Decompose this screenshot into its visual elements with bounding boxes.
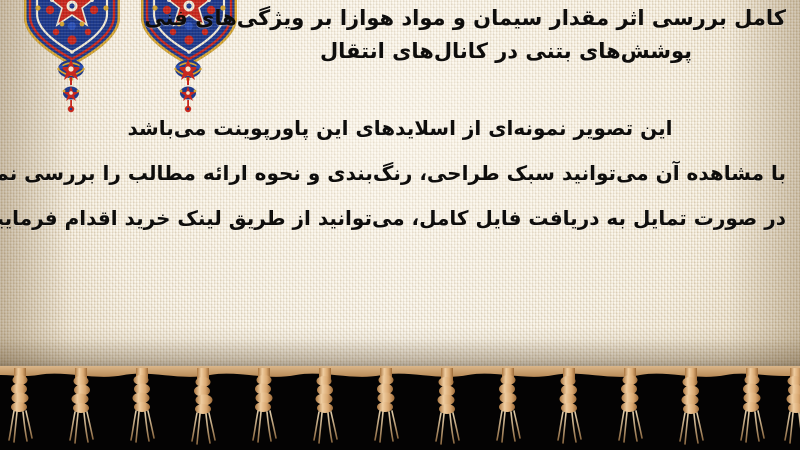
- rope-tassel: [551, 368, 587, 446]
- presentation-slide: کامل بررسی اثر مقدار سیمان و مواد هوازا …: [0, 0, 800, 450]
- rope-tassel: [734, 368, 770, 446]
- rope-tassel: [63, 368, 99, 446]
- slide-body-line-2: با مشاهده آن می‌توانید سبک طراحی، رنگ‌بن…: [14, 151, 786, 196]
- rope-fringe-band: [0, 366, 800, 450]
- rope-tassel: [185, 368, 221, 446]
- slide-title-line-1: کامل بررسی اثر مقدار سیمان و مواد هوازا …: [226, 2, 786, 35]
- rope-tassel: [2, 368, 38, 446]
- rope-tassel: [490, 368, 526, 446]
- rope-tassel: [612, 368, 648, 446]
- slide-body-line-1: این تصویر نمونه‌ای از اسلایدهای این پاور…: [14, 106, 786, 151]
- slide-body: این تصویر نمونه‌ای از اسلایدهای این پاور…: [14, 106, 786, 241]
- rope-tassel: [429, 368, 465, 446]
- slide-title: کامل بررسی اثر مقدار سیمان و مواد هوازا …: [226, 2, 786, 68]
- rope-tassel: [246, 368, 282, 446]
- rope-tassel: [673, 368, 709, 446]
- rope-tassel: [307, 368, 343, 446]
- rope-tassel: [124, 368, 160, 446]
- slide-title-line-2: پوشش‌های بتنی در کانال‌های انتقال: [226, 35, 786, 68]
- rope-tassel: [778, 368, 800, 446]
- slide-body-line-3: در صورت تمایل به دریافت فایل کامل، می‌تو…: [14, 196, 786, 241]
- rope-tassel: [368, 368, 404, 446]
